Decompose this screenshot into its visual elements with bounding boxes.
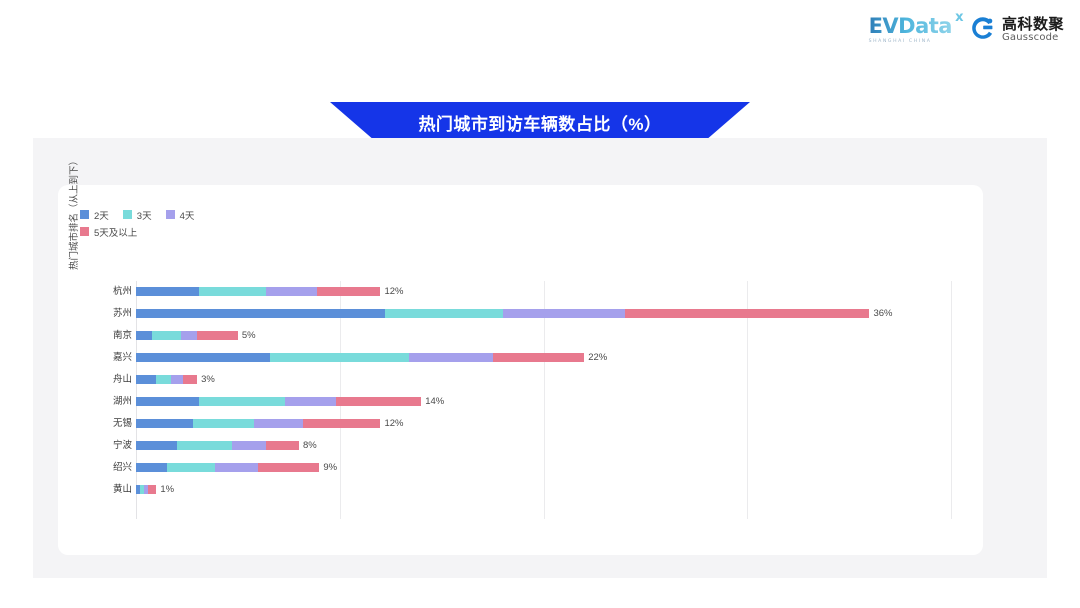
bar-segment[interactable]: [215, 463, 258, 472]
bar-segment[interactable]: [270, 353, 409, 362]
bar-segment[interactable]: [199, 397, 285, 406]
chart-bar-row[interactable]: 苏州36%: [58, 303, 983, 325]
bar-value-label: 1%: [160, 485, 174, 494]
bar-value-label: 22%: [588, 353, 607, 362]
bar-segment[interactable]: [232, 441, 267, 450]
stacked-bar[interactable]: 5%: [136, 331, 256, 340]
y-axis-tick-label: 宁波: [78, 435, 132, 457]
chart-bar-row[interactable]: 宁波8%: [58, 435, 983, 457]
bar-segment[interactable]: [197, 331, 238, 340]
chart-plot-area: 热门城市排名（从上到下） 杭州12%苏州36%南京5%嘉兴22%舟山3%湖州14…: [58, 185, 983, 555]
evdata-superscript-x: x: [955, 11, 963, 24]
bar-segment[interactable]: [136, 441, 177, 450]
gausscode-name-cn: 高科数聚: [1002, 17, 1064, 33]
y-axis-tick-label: 无锡: [78, 413, 132, 435]
bar-segment[interactable]: [177, 441, 232, 450]
chart-bar-row[interactable]: 黄山1%: [58, 479, 983, 501]
evdata-subtitle: SHANGHAI CHINA: [869, 40, 932, 45]
stacked-bar[interactable]: 12%: [136, 287, 404, 296]
bar-segment[interactable]: [152, 331, 181, 340]
bar-segment[interactable]: [136, 397, 199, 406]
bar-segment[interactable]: [136, 463, 167, 472]
y-axis-tick-label: 舟山: [78, 369, 132, 391]
bar-segment[interactable]: [136, 419, 193, 428]
chart-bar-row[interactable]: 杭州12%: [58, 281, 983, 303]
y-axis-tick-label: 绍兴: [78, 457, 132, 479]
gausscode-name-en: Gausscode: [1002, 33, 1064, 44]
y-axis-tick-label: 黄山: [78, 479, 132, 501]
evdata-wordmark: EVDatax: [869, 16, 952, 37]
bar-segment[interactable]: [285, 397, 336, 406]
bar-segment[interactable]: [183, 375, 197, 384]
bar-segment[interactable]: [336, 397, 422, 406]
y-axis-tick-label: 湖州: [78, 391, 132, 413]
bar-segment[interactable]: [167, 463, 216, 472]
bar-segment[interactable]: [303, 419, 380, 428]
y-axis-title: 热门城市排名（从上到下）: [66, 123, 80, 303]
evdata-logo: EVDatax SHANGHAI CHINA: [869, 16, 952, 45]
chart-bar-row[interactable]: 无锡12%: [58, 413, 983, 435]
chart-bar-rows: 杭州12%苏州36%南京5%嘉兴22%舟山3%湖州14%无锡12%宁波8%绍兴9…: [58, 281, 983, 501]
gausscode-text: 高科数聚 Gausscode: [1002, 17, 1064, 43]
bar-value-label: 12%: [384, 419, 403, 428]
stacked-bar[interactable]: 9%: [136, 463, 337, 472]
header-logo-bar: EVDatax SHANGHAI CHINA 高科数聚 Gausscode: [869, 12, 1064, 48]
bar-segment[interactable]: [136, 309, 385, 318]
chart-bar-row[interactable]: 湖州14%: [58, 391, 983, 413]
page-title: 热门城市到访车辆数占比（%）: [418, 110, 661, 135]
chart-card: 2天3天4天5天及以上 热门城市排名（从上到下） 杭州12%苏州36%南京5%嘉…: [58, 185, 983, 555]
title-banner: 热门城市到访车辆数占比（%）: [330, 102, 750, 142]
bar-segment[interactable]: [493, 353, 585, 362]
bar-segment[interactable]: [148, 485, 156, 494]
bar-segment[interactable]: [266, 441, 299, 450]
bar-value-label: 14%: [425, 397, 444, 406]
chart-bar-row[interactable]: 绍兴9%: [58, 457, 983, 479]
bar-value-label: 9%: [323, 463, 337, 472]
stacked-bar[interactable]: 14%: [136, 397, 444, 406]
y-axis-tick-label: 杭州: [78, 281, 132, 303]
bar-segment[interactable]: [254, 419, 303, 428]
bar-segment[interactable]: [136, 331, 152, 340]
chart-bar-row[interactable]: 舟山3%: [58, 369, 983, 391]
bar-value-label: 8%: [303, 441, 317, 450]
gausscode-mark-icon: [970, 15, 996, 46]
stacked-bar[interactable]: 8%: [136, 441, 317, 450]
bar-segment[interactable]: [266, 287, 317, 296]
bar-segment[interactable]: [409, 353, 493, 362]
y-axis-tick-label: 苏州: [78, 303, 132, 325]
chart-bar-row[interactable]: 南京5%: [58, 325, 983, 347]
stacked-bar[interactable]: 22%: [136, 353, 607, 362]
bar-segment[interactable]: [136, 375, 156, 384]
bar-value-label: 3%: [201, 375, 215, 384]
bar-segment[interactable]: [258, 463, 319, 472]
gausscode-logo: 高科数聚 Gausscode: [970, 15, 1064, 46]
bar-segment[interactable]: [317, 287, 380, 296]
bar-segment[interactable]: [136, 353, 270, 362]
bar-segment[interactable]: [385, 309, 503, 318]
stacked-bar[interactable]: 36%: [136, 309, 893, 318]
bar-segment[interactable]: [136, 287, 199, 296]
bar-value-label: 5%: [242, 331, 256, 340]
bar-segment[interactable]: [625, 309, 870, 318]
bar-segment[interactable]: [503, 309, 625, 318]
y-axis-tick-label: 南京: [78, 325, 132, 347]
bar-value-label: 12%: [384, 287, 403, 296]
evdata-wordmark-text: EVData: [869, 14, 952, 38]
bar-value-label: 36%: [873, 309, 892, 318]
bar-segment[interactable]: [193, 419, 254, 428]
bar-segment[interactable]: [156, 375, 170, 384]
stacked-bar[interactable]: 3%: [136, 375, 215, 384]
bar-segment[interactable]: [171, 375, 183, 384]
stacked-bar[interactable]: 1%: [136, 485, 174, 494]
bar-segment[interactable]: [199, 287, 266, 296]
stacked-bar[interactable]: 12%: [136, 419, 404, 428]
chart-bar-row[interactable]: 嘉兴22%: [58, 347, 983, 369]
y-axis-tick-label: 嘉兴: [78, 347, 132, 369]
slide-root: EVDatax SHANGHAI CHINA 高科数聚 Gausscode 热门…: [0, 0, 1080, 608]
bar-segment[interactable]: [181, 331, 197, 340]
